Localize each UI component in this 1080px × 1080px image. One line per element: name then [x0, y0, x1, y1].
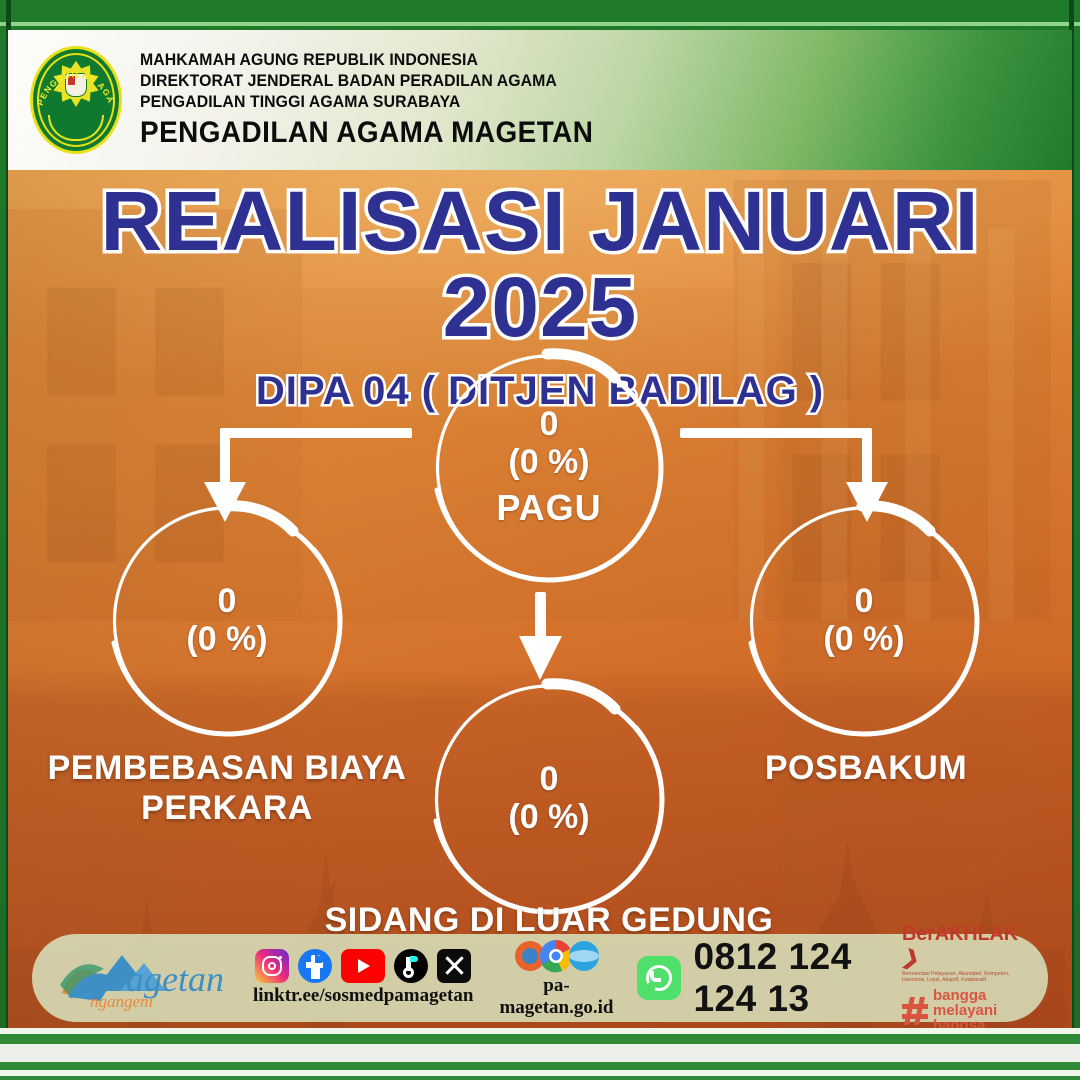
main-stage: REALISASI JANUARI 2025 DIPA 04 ( DITJEN … — [8, 170, 1072, 1028]
header-line-2: DIREKTORAT JENDERAL BADAN PERADILAN AGAM… — [140, 70, 593, 91]
node-right-label: POSBAKUM — [765, 748, 967, 788]
node-bottom-value: 0 — [428, 761, 670, 797]
linktree-url[interactable]: linktr.ee/sosmedpamagetan — [253, 985, 473, 1007]
bottom-stripes — [0, 1028, 1080, 1080]
node-posbakum: 0 (0 %) — [743, 500, 985, 742]
logo-arc-text: PENGADILAN AGAMA MAGETAN — [30, 46, 122, 154]
berakhlak-title-text: BerAKHLAK — [902, 923, 1018, 945]
browser-icons — [504, 938, 608, 974]
tiktok-icon[interactable] — [394, 949, 428, 983]
header-line-1: MAHKAMAH AGUNG REPUBLIK INDONESIA — [140, 49, 593, 70]
bangga-line-2: melayani — [933, 1003, 997, 1018]
court-logo-emblem: PENGADILAN AGAMA MAGETAN — [30, 46, 122, 154]
website-url[interactable]: pa-magetan.go.id — [499, 975, 613, 1019]
website-group: pa-magetan.go.id — [499, 938, 613, 1019]
infographic-poster: PENGADILAN AGAMA MAGETAN MAHKAMAH AGUNG … — [0, 0, 1080, 1080]
svg-text:PENGADILAN AGAMA MAGETAN: PENGADILAN AGAMA MAGETAN — [30, 46, 116, 107]
node-pagu-values: 0 (0 %) PAGU — [429, 406, 669, 530]
node-sidang-di-luar-gedung: 0 (0 %) — [428, 678, 670, 920]
berakhlak-badge: BerAKHLAK❯ Berorientasi Pelayanan, Akunt… — [902, 923, 1022, 1033]
whatsapp-icon[interactable] — [637, 956, 681, 1000]
node-left-values: 0 (0 %) — [106, 583, 348, 659]
header-text-block: MAHKAMAH AGUNG REPUBLIK INDONESIA DIREKT… — [140, 49, 628, 151]
node-pagu: 0 (0 %) PAGU — [429, 348, 669, 588]
logo-arc-textpath: PENGADILAN AGAMA MAGETAN — [30, 46, 116, 107]
footer-contact-bar: agetan ngangeni — [32, 934, 1048, 1022]
stripe-6 — [0, 1076, 1080, 1080]
node-bottom-values: 0 (0 %) — [428, 761, 670, 837]
node-right-values: 0 (0 %) — [743, 583, 985, 659]
node-left-label: PEMBEBASAN BIAYA PERKARA — [48, 748, 407, 828]
frame-top-line — [0, 22, 1080, 26]
header-line-4: PENGADILAN AGAMA MAGETAN — [140, 115, 593, 151]
social-media-group: linktr.ee/sosmedpamagetan — [253, 949, 473, 1007]
berakhlak-subtitle: Berorientasi Pelayanan, Akuntabel, Kompe… — [902, 971, 1022, 983]
node-right-percent: (0 %) — [743, 619, 985, 659]
node-right-value: 0 — [743, 583, 985, 619]
stripe-3 — [0, 1044, 1080, 1062]
stripe-2 — [0, 1034, 1080, 1044]
node-left-value: 0 — [106, 583, 348, 619]
node-pagu-value: 0 — [429, 406, 669, 442]
stripe-4 — [0, 1062, 1080, 1070]
whatsapp-group: 0812 124 124 13 — [637, 936, 902, 1020]
magetan-tourism-logo: agetan ngangeni — [54, 945, 239, 1011]
bangga-line-1: bangga — [933, 988, 997, 1003]
node-left-label-line2: PERKARA — [48, 788, 407, 828]
bangga-melayani-bangsa-logo: bangga melayani bangsa — [902, 988, 1022, 1033]
page-title: REALISASI JANUARI 2025 — [8, 178, 1072, 350]
hash-icon — [902, 997, 928, 1025]
whatsapp-number[interactable]: 0812 124 124 13 — [693, 936, 902, 1020]
node-bottom-percent: (0 %) — [428, 797, 670, 837]
node-left-label-line1: PEMBEBASAN BIAYA — [48, 748, 407, 788]
youtube-icon[interactable] — [341, 949, 385, 983]
instagram-icon[interactable] — [255, 949, 289, 983]
node-pagu-label: PAGU — [429, 486, 669, 530]
header-bar: PENGADILAN AGAMA MAGETAN MAHKAMAH AGUNG … — [8, 30, 1072, 170]
facebook-icon[interactable] — [298, 949, 332, 983]
header-line-3: PENGADILAN TINGGI AGAMA SURABAYA — [140, 91, 593, 112]
node-pagu-percent: (0 %) — [429, 442, 669, 482]
x-twitter-icon[interactable] — [437, 949, 471, 983]
node-left-percent: (0 %) — [106, 619, 348, 659]
node-pembebasan-biaya-perkara: 0 (0 %) — [106, 500, 348, 742]
berakhlak-title: BerAKHLAK❯ — [902, 923, 1022, 971]
svg-text:ngangeni: ngangeni — [90, 992, 154, 1011]
